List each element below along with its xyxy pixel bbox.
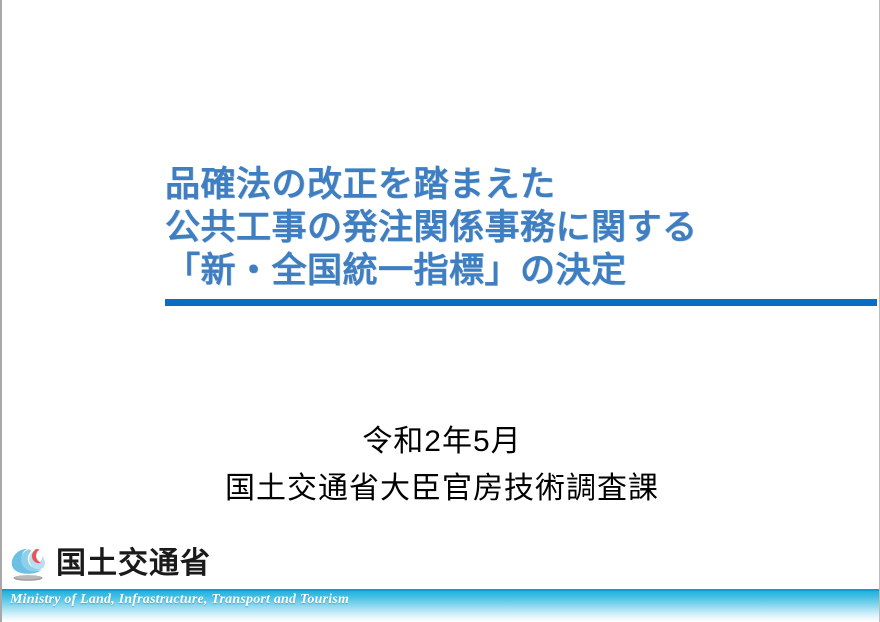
issuing-department: 国土交通省大臣官房技術調査課 — [2, 465, 880, 512]
title-line-3: 「新・全国統一指標」の決定 — [165, 249, 877, 292]
publication-date: 令和2年5月 — [2, 418, 880, 465]
slide-footer: 国土交通省 Ministry of Land, Infrastructure, … — [2, 540, 880, 622]
footer-gradient-bar: Ministry of Land, Infrastructure, Transp… — [2, 589, 880, 622]
title-line-2: 公共工事の発注関係事務に関する — [165, 206, 877, 249]
organization-name-en: Ministry of Land, Infrastructure, Transp… — [10, 592, 349, 608]
mlit-swirl-logo-icon — [8, 544, 48, 584]
title-underline-rule — [165, 299, 877, 306]
document-meta-block: 令和2年5月 国土交通省大臣官房技術調査課 — [2, 418, 880, 512]
footer-bar-accent-line — [2, 589, 880, 591]
title-line-1: 品確法の改正を踏まえた — [165, 163, 877, 206]
page-title: 品確法の改正を踏まえた 公共工事の発注関係事務に関する 「新・全国統一指標」の決… — [165, 163, 877, 292]
title-slide: 品確法の改正を踏まえた 公共工事の発注関係事務に関する 「新・全国統一指標」の決… — [0, 0, 880, 622]
organization-logo-row: 国土交通省 — [8, 540, 211, 587]
organization-name-ja: 国土交通省 — [56, 547, 211, 581]
